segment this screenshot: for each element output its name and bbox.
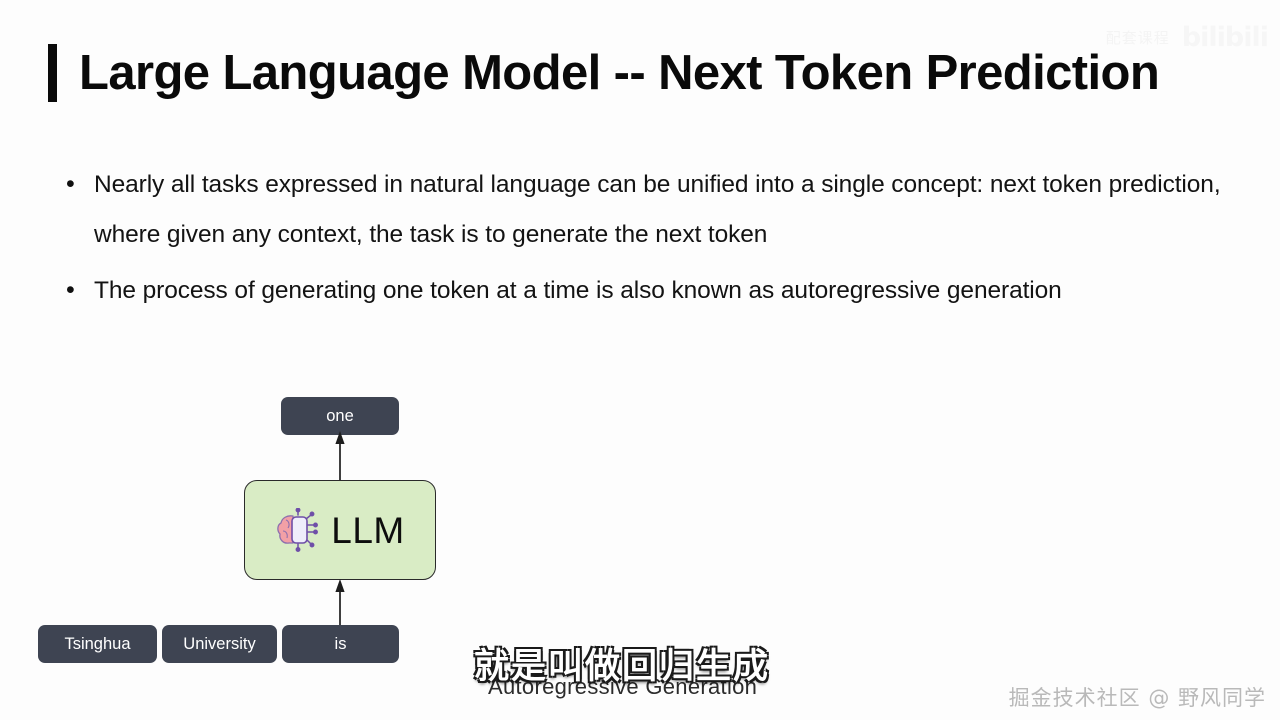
arrow-up-input-icon: [333, 578, 347, 628]
bullet-marker-icon: •: [60, 160, 94, 208]
slide-canvas: 配套课程 bilibili Large Language Model -- Ne…: [0, 0, 1280, 720]
input-token-box: University: [162, 625, 277, 663]
llm-label: LLM: [331, 512, 404, 549]
bullet-text: The process of generating one token at a…: [94, 266, 1062, 316]
input-token-box: Tsinghua: [38, 625, 157, 663]
video-subtitle: 就是叫做回归生成: [474, 638, 770, 689]
bullet-list: • Nearly all tasks expressed in natural …: [60, 160, 1240, 322]
bilibili-logo-icon: bilibili: [1182, 24, 1268, 51]
brain-chip-icon: [275, 508, 319, 552]
bullet-item: • Nearly all tasks expressed in natural …: [60, 160, 1240, 260]
bullet-item: • The process of generating one token at…: [60, 266, 1240, 316]
community-watermark: 掘金技术社区 @ 野风同学: [1009, 682, 1266, 712]
page-title-row: Large Language Model -- Next Token Predi…: [48, 40, 1159, 106]
input-token-box: is: [282, 625, 399, 663]
title-accent-bar: [48, 44, 57, 102]
llm-model-box: LLM: [244, 480, 436, 580]
autoregressive-diagram: one: [0, 380, 520, 680]
bullet-marker-icon: •: [60, 266, 94, 314]
arrow-up-output-icon: [333, 430, 347, 482]
page-title: Large Language Model -- Next Token Predi…: [79, 49, 1159, 98]
bullet-text: Nearly all tasks expressed in natural la…: [94, 160, 1240, 260]
